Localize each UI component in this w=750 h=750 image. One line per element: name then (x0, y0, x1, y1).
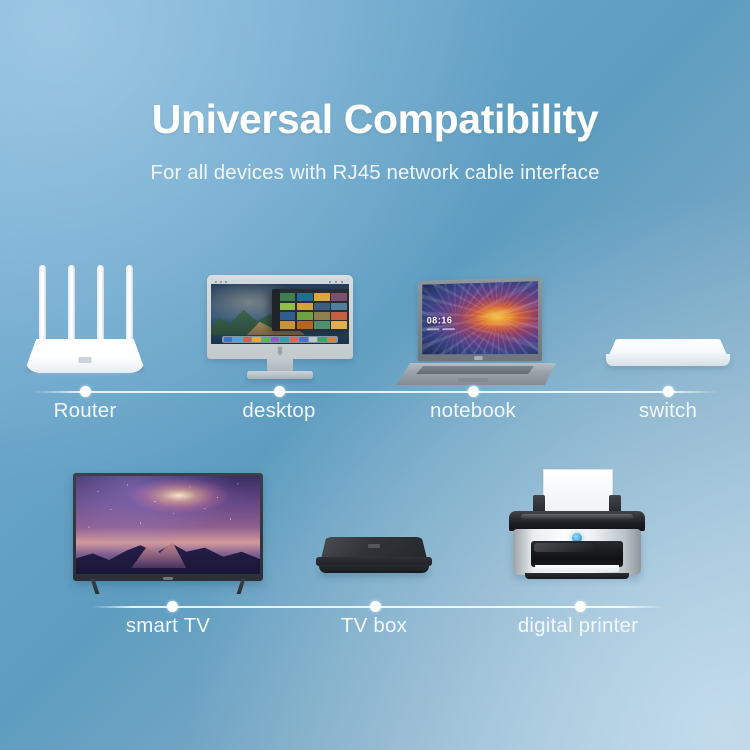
device-label-notebook: notebook (430, 399, 516, 423)
printer-slot-highlight (534, 543, 594, 552)
rail-dot-router (80, 386, 91, 397)
device-row-2-rail (0, 600, 750, 614)
router-logo (79, 357, 92, 363)
device-row-2: smart TV TV box digital printer (0, 460, 750, 655)
device-label-smart-tv: smart TV (126, 614, 210, 638)
header: Universal Compatibility For all devices … (0, 96, 750, 185)
device-label-digital-printer: digital printer (518, 614, 638, 638)
rail-line (32, 391, 718, 393)
photo-column (297, 293, 313, 329)
network-switch-icon (606, 339, 730, 373)
device-label-router: Router (54, 399, 117, 423)
apple-logo-icon (276, 346, 284, 355)
device-label-tv-box: TV box (341, 614, 407, 638)
router-antenna-1 (39, 265, 46, 343)
smart-tv-icon (73, 473, 263, 595)
laptop-clock: 08:16 (427, 316, 466, 326)
router-body (24, 339, 146, 373)
laptop-logo (474, 356, 482, 360)
laptop-date-placeholder (427, 328, 466, 330)
printer-paper-sheet (543, 469, 613, 513)
device-row-2-labels: smart TV TV box digital printer (0, 614, 750, 654)
photo-column (314, 293, 330, 329)
page-subtitle: For all devices with RJ45 network cable … (0, 161, 750, 185)
router-antenna-2 (68, 265, 75, 343)
imac-screen (211, 279, 349, 344)
laptop-keyboard (416, 366, 534, 374)
laptop-screen: 08:16 (422, 281, 538, 354)
device-row-2-icons (0, 460, 750, 595)
rail-dot-switch (663, 386, 674, 397)
tv-leg-right (237, 579, 246, 594)
device-label-switch: switch (639, 399, 697, 423)
device-label-desktop: desktop (242, 399, 315, 423)
imac-menubar (211, 279, 349, 284)
device-row-1-labels: Router desktop notebook switch (0, 399, 750, 439)
tvbox-bottom-face (319, 565, 429, 573)
imac-bezel (207, 275, 353, 359)
page-title: Universal Compatibility (0, 96, 750, 143)
tv-box-icon (315, 537, 433, 579)
laptop-lid: 08:16 (418, 277, 542, 361)
rail-dot-notebook (468, 386, 479, 397)
photo-column (331, 293, 347, 329)
printer-base (525, 573, 629, 579)
switch-top-face (609, 339, 727, 355)
device-row-1-rail (0, 385, 750, 399)
laptop-lockscreen-widget: 08:16 (427, 314, 466, 332)
tv-brand-logo (163, 577, 173, 580)
rail-dot-desktop (274, 386, 285, 397)
tv-screen (76, 476, 260, 574)
imac-stand-foot (247, 371, 313, 379)
device-row-1: 08:16 (0, 250, 750, 430)
imac-chin (211, 344, 349, 357)
wifi-router-icon (16, 275, 154, 385)
infographic-page: Universal Compatibility For all devices … (0, 0, 750, 750)
tv-frame (73, 473, 263, 581)
printer-top-highlight (521, 514, 633, 520)
tv-leg-left (91, 579, 100, 594)
printer-output-tray (535, 565, 619, 572)
app-sidebar (272, 289, 280, 331)
rail-dot-tv-box (370, 601, 381, 612)
imac-dock (222, 336, 338, 343)
imac-photo-app-window (272, 289, 349, 331)
device-row-1-icons: 08:16 (0, 250, 750, 385)
tvbox-logo (368, 544, 380, 548)
rail-dot-smart-tv (167, 601, 178, 612)
printer-icon (501, 469, 653, 595)
laptop-notebook-icon: 08:16 (396, 277, 556, 385)
router-antenna-4 (126, 265, 133, 343)
laptop-trackpad (458, 378, 488, 382)
tvbox-top-face (321, 537, 427, 559)
imac-desktop-icon (207, 275, 353, 385)
switch-front-face (606, 354, 730, 366)
rail-dot-digital-printer (575, 601, 586, 612)
router-antenna-3 (97, 265, 104, 343)
photo-column (280, 293, 296, 329)
